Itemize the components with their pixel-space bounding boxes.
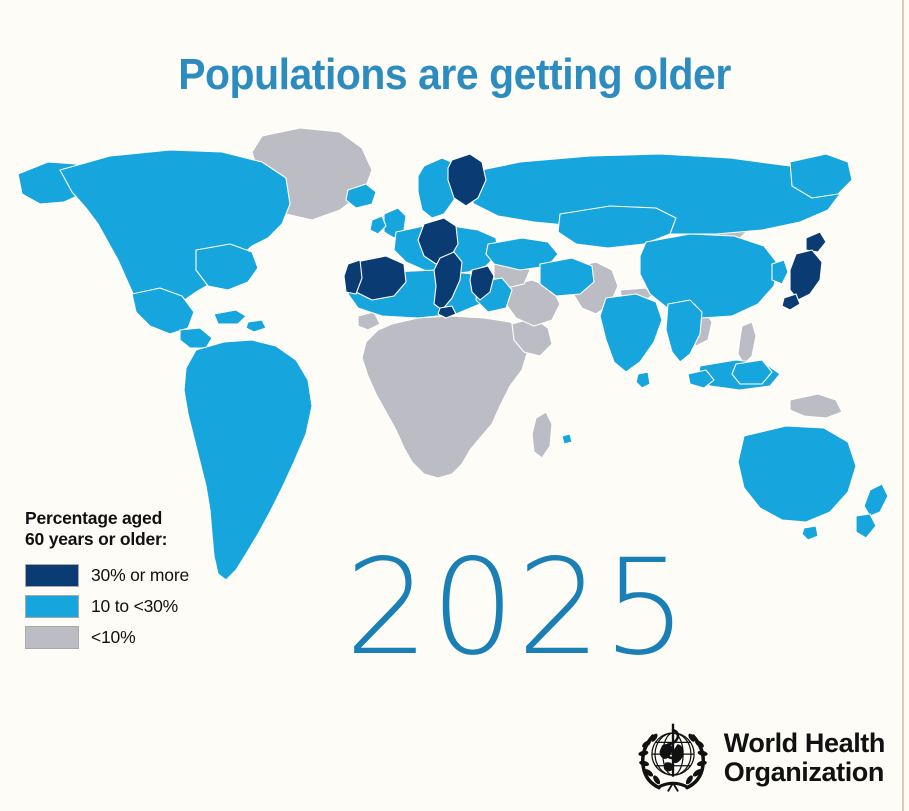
legend-label-low: <10% (91, 627, 135, 648)
page-title: Populations are getting older (32, 50, 877, 100)
who-logo-text: World Health Organization (724, 729, 885, 787)
who-emblem-icon (634, 719, 712, 797)
legend-items: 30% or more 10 to <30% <10% (25, 562, 240, 652)
legend-label-mid: 10 to <30% (91, 596, 178, 617)
legend-item-low: <10% (25, 624, 240, 652)
legend-swatch-mid (25, 595, 79, 618)
legend-label-high: 30% or more (91, 565, 189, 586)
legend-swatch-low (25, 626, 79, 649)
legend-title: Percentage aged 60 years or older: (25, 508, 240, 551)
map-legend: Percentage aged 60 years or older: 30% o… (25, 508, 240, 655)
year-label: 2025 (345, 542, 689, 674)
legend-swatch-high (25, 564, 79, 587)
legend-item-mid: 10 to <30% (25, 593, 240, 621)
legend-item-high: 30% or more (25, 562, 240, 590)
who-logo: World Health Organization (634, 719, 885, 797)
